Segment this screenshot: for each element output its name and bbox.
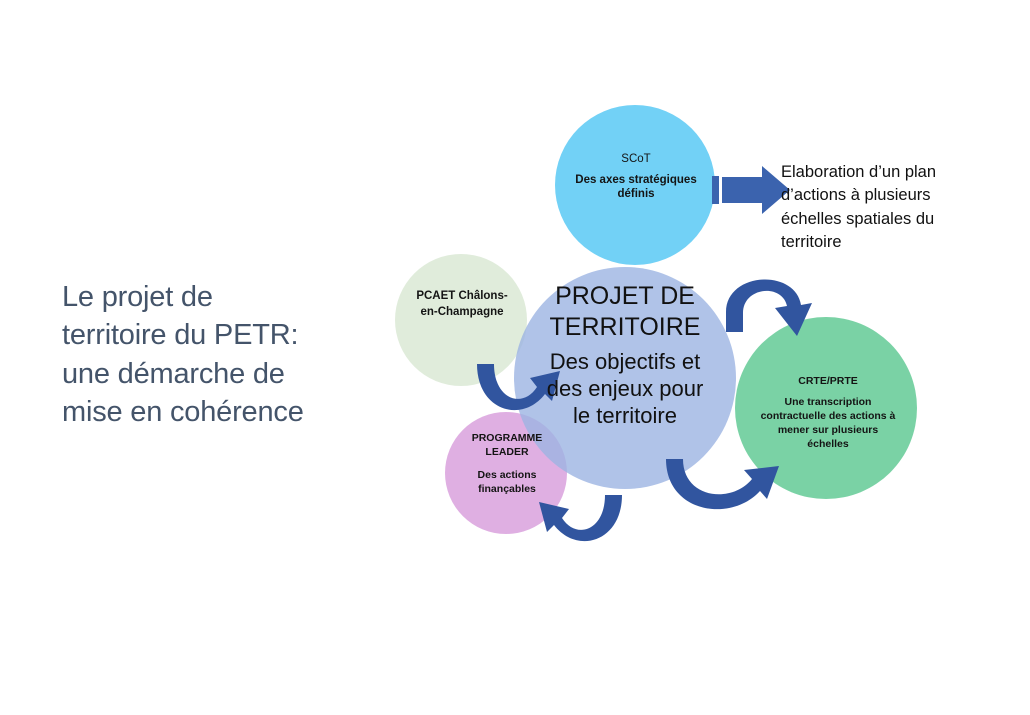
arrow-projet-to-crte-top <box>726 279 812 336</box>
pcaet-circle[interactable] <box>395 254 527 386</box>
diagram-graphic <box>0 0 1030 715</box>
arrow-scot-to-callout <box>712 166 790 214</box>
scot-circle[interactable] <box>555 105 715 265</box>
callout-text: Elaboration d’un plan d’actions à plusie… <box>781 161 977 255</box>
slide-canvas: Le projet de territoire du PETR: une dém… <box>0 0 1030 715</box>
